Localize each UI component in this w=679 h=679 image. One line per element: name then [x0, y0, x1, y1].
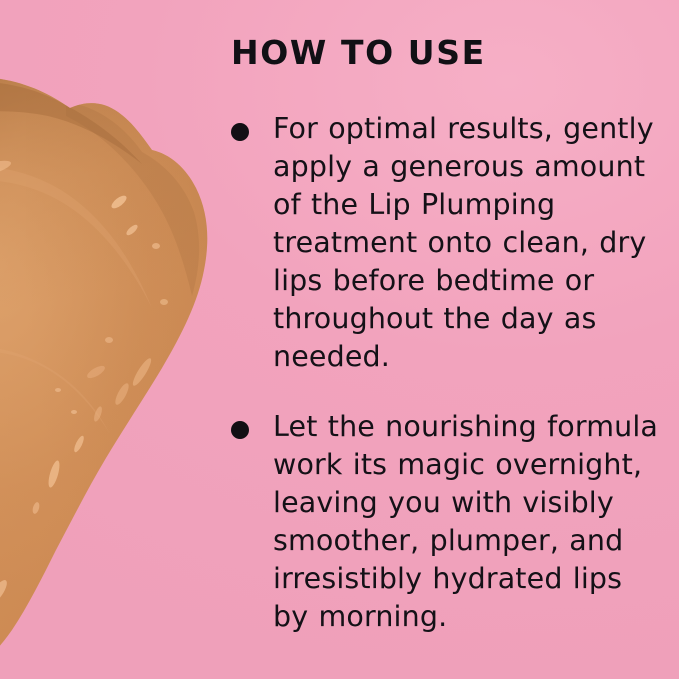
page-title: HOW TO USE: [231, 33, 486, 73]
instruction-text: Let the nourishing formula work its magi…: [273, 408, 663, 636]
content-column: HOW TO USE For optimal results, gently a…: [231, 0, 663, 679]
instruction-text: For optimal results, gently apply a gene…: [273, 110, 663, 376]
bullet-dot-icon: [231, 123, 249, 141]
list-item: Let the nourishing formula work its magi…: [231, 408, 663, 636]
bullet-dot-icon: [231, 421, 249, 439]
instructions-list: For optimal results, gently apply a gene…: [231, 110, 663, 636]
how-to-use-card: HOW TO USE For optimal results, gently a…: [0, 0, 679, 679]
list-item: For optimal results, gently apply a gene…: [231, 110, 663, 376]
